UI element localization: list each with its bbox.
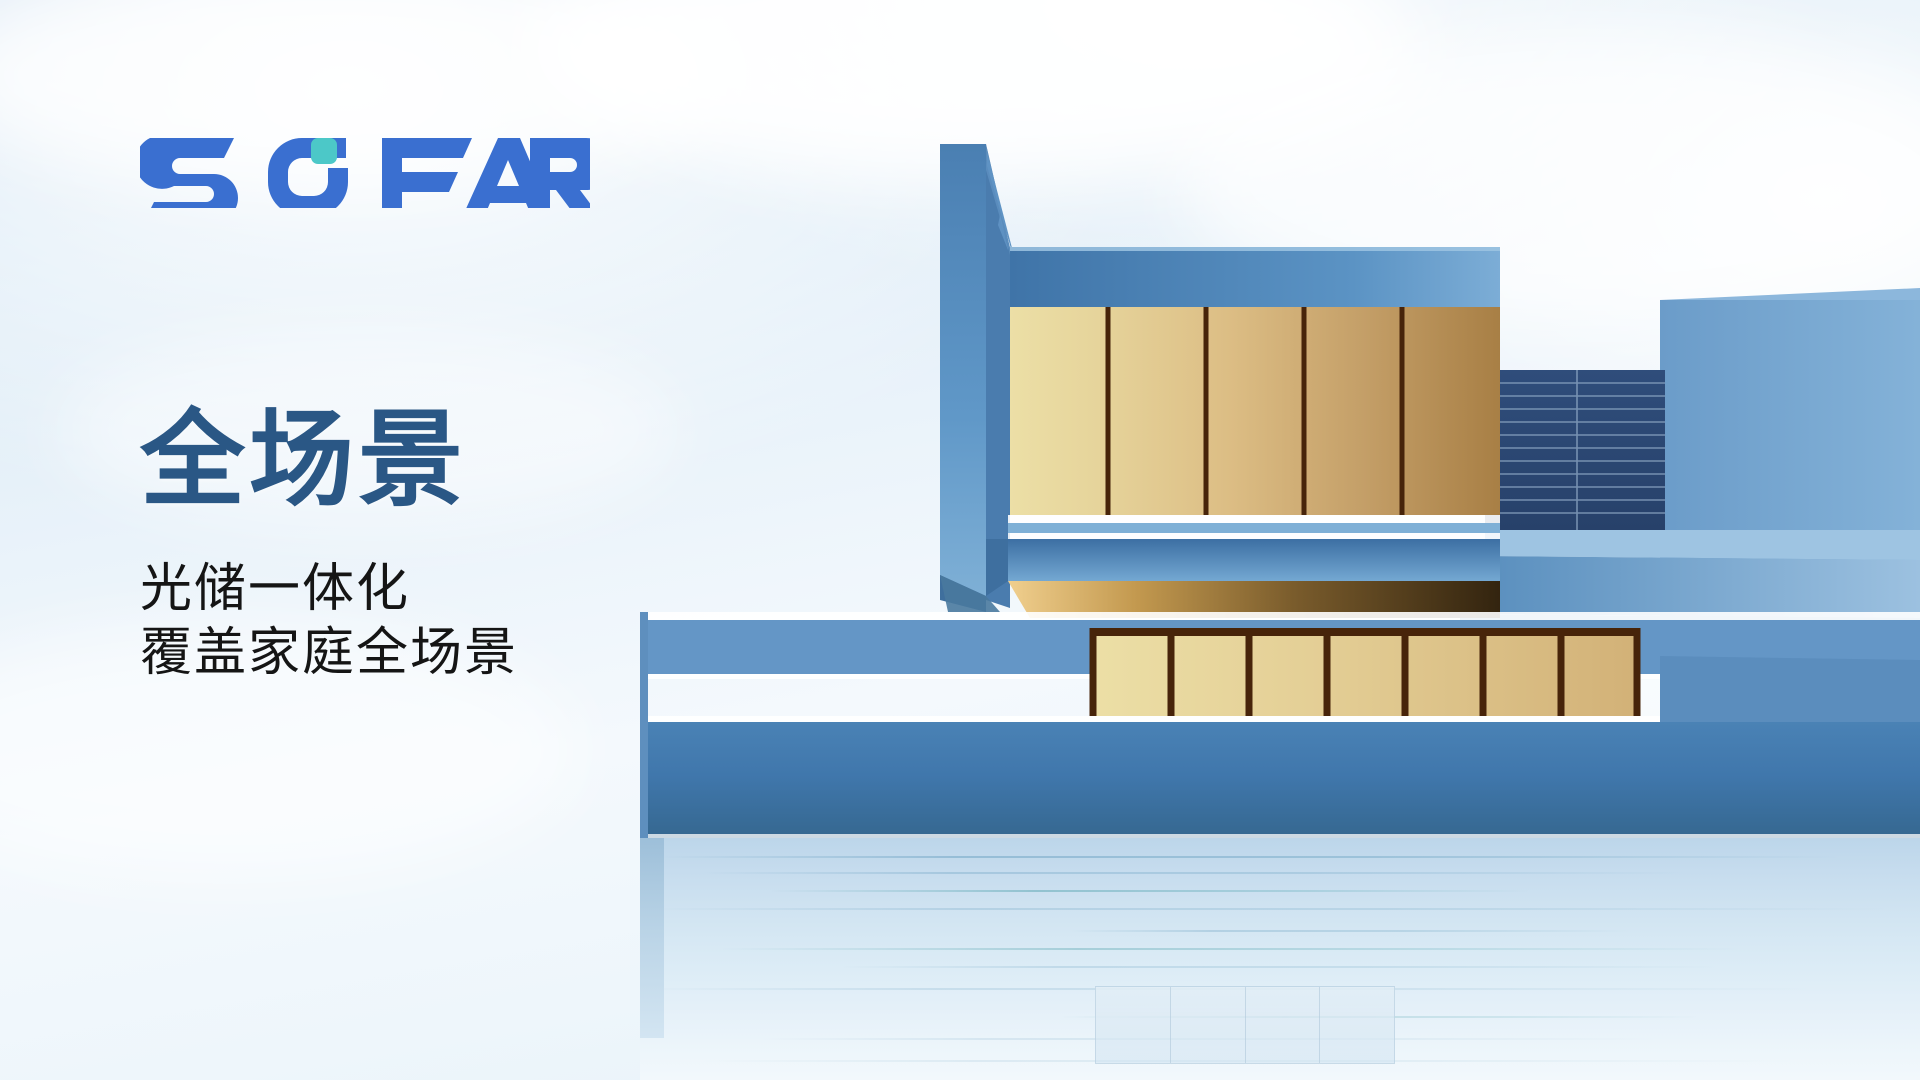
- reflected-window-row: [1095, 986, 1395, 1064]
- subtitle-line-2: 覆盖家庭全场景: [140, 621, 760, 685]
- right-wing-base: [1660, 656, 1920, 722]
- lower-wood-window-row: [1090, 628, 1640, 716]
- subtitle-block: 光储一体化 覆盖家庭全场景: [140, 557, 760, 686]
- sofar-logo[interactable]: [140, 120, 590, 208]
- water-left-edge: [640, 838, 664, 1038]
- page-title: 全场景: [140, 408, 760, 513]
- upper-roof-band: [1010, 247, 1500, 307]
- subtitle-line-1: 光储一体化: [140, 557, 760, 621]
- water-surface: [640, 838, 1920, 1080]
- hero-text-block: 全场景 光储一体化 覆盖家庭全场景: [140, 120, 760, 686]
- hero-banner: 全场景 光储一体化 覆盖家庭全场景: [0, 0, 1920, 1080]
- solar-panel-array: [1485, 370, 1665, 530]
- teal-square-accent: [311, 138, 337, 164]
- upper-wood-facade: [1010, 307, 1500, 515]
